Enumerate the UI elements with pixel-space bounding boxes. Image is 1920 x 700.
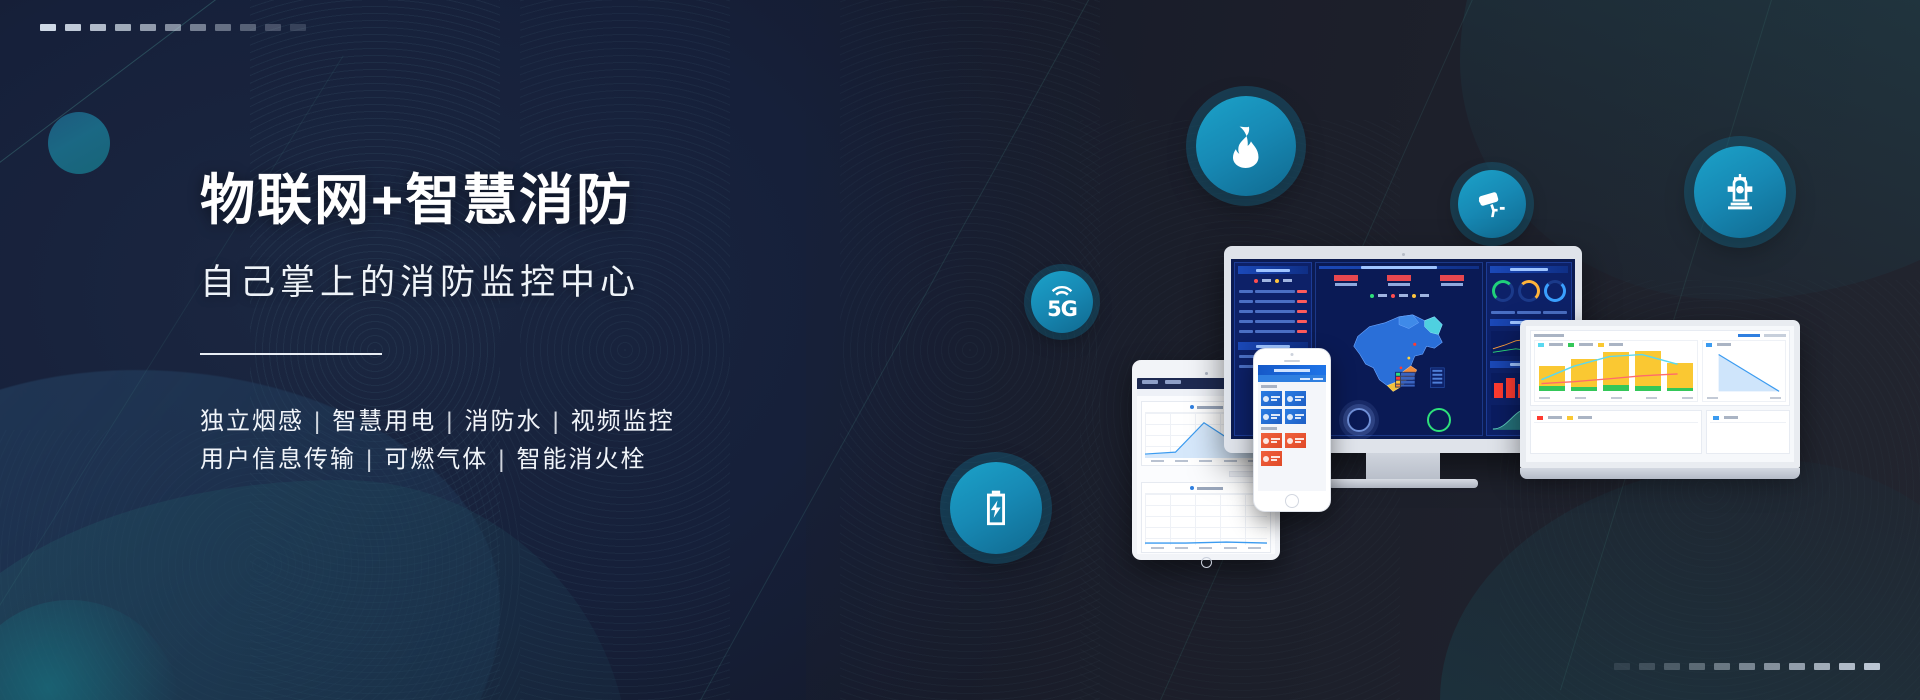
dash-mark (140, 24, 156, 31)
feature-separator: | (436, 408, 464, 435)
phone-tile[interactable] (1285, 391, 1306, 406)
dash-mark (290, 24, 306, 31)
dash-decor-bottom-right (1614, 663, 1880, 670)
dash-mark (190, 24, 206, 31)
dash-mark (1639, 663, 1655, 670)
phone-device[interactable] (1253, 348, 1331, 512)
phone-tile[interactable] (1261, 409, 1282, 424)
5g-icon-badge[interactable]: 5G (1031, 271, 1093, 333)
feature-item[interactable]: 独立烟感 (200, 408, 304, 435)
battery-icon-badge[interactable] (950, 462, 1042, 554)
tablet-home-button[interactable] (1201, 557, 1212, 568)
hydrant-icon (1720, 172, 1760, 212)
feature-separator: | (304, 408, 332, 435)
battery-icon (976, 488, 1016, 528)
camera-icon-badge[interactable] (1458, 170, 1526, 238)
hydrant-icon-badge[interactable] (1694, 146, 1786, 238)
phone-tile-alert[interactable] (1261, 433, 1282, 448)
hero-banner: 物联网+智慧消防 自己掌上的消防监控中心 独立烟感|智慧用电|消防水|视频监控用… (0, 0, 1920, 700)
phone-speaker (1284, 360, 1300, 362)
dash-mark (215, 24, 231, 31)
gauge-2 (1518, 280, 1540, 302)
gauge-3 (1544, 280, 1566, 302)
monitor-panel-center (1315, 262, 1483, 436)
tablet-chart-card-2 (1141, 482, 1271, 553)
dash-mark (1764, 663, 1780, 670)
device-cluster (1120, 280, 1800, 580)
phone-home-button[interactable] (1285, 494, 1299, 508)
feature-row: 独立烟感|智慧用电|消防水|视频监控 (200, 403, 840, 442)
feature-separator: | (488, 446, 516, 473)
dash-mark (1739, 663, 1755, 670)
monitor-stand (1366, 453, 1440, 479)
tablet-camera-dot (1205, 372, 1208, 375)
feature-row: 用户信息传输|可燃气体|智能消火栓 (200, 441, 840, 480)
hero-subheadline: 自己掌上的消防监控中心 (200, 254, 840, 305)
dash-mark (1714, 663, 1730, 670)
sonar-chart (1347, 408, 1371, 432)
hero-copy: 物联网+智慧消防 自己掌上的消防监控中心 独立烟感|智慧用电|消防水|视频监控用… (200, 170, 840, 480)
feature-item[interactable]: 用户信息传输 (200, 446, 356, 473)
dash-mark (1614, 663, 1630, 670)
dash-mark (115, 24, 131, 31)
phone-tile[interactable] (1285, 409, 1306, 424)
dash-mark (1839, 663, 1855, 670)
china-map-chart (1319, 303, 1479, 401)
feature-item[interactable]: 视频监控 (571, 408, 675, 435)
hero-divider (200, 353, 382, 355)
laptop-card-lower-right (1706, 410, 1790, 454)
laptop-screen (1526, 326, 1794, 462)
phone-tile-alert[interactable] (1285, 433, 1306, 448)
dash-mark (240, 24, 256, 31)
decorative-circle (48, 112, 110, 174)
phone-toolbar (1258, 375, 1326, 382)
wifi-signal-icon (1050, 285, 1074, 297)
feature-list: 独立烟感|智慧用电|消防水|视频监控用户信息传输|可燃气体|智能消火栓 (200, 403, 840, 481)
progress-ring-chart (1427, 408, 1451, 432)
laptop-base (1520, 468, 1800, 479)
feature-separator: | (356, 446, 384, 473)
feature-separator: | (542, 408, 570, 435)
laptop-bar-line-chart (1534, 340, 1698, 402)
dash-mark (1689, 663, 1705, 670)
gauge-1 (1492, 280, 1514, 302)
dash-mark (1789, 663, 1805, 670)
monitor-base (1328, 479, 1478, 488)
phone-section-orange (1258, 424, 1326, 466)
dash-mark (265, 24, 281, 31)
laptop-card-lower-left (1530, 410, 1702, 454)
monitor-camera-dot (1402, 253, 1405, 256)
phone-section-blue (1258, 382, 1326, 424)
dash-mark (1664, 663, 1680, 670)
feature-item[interactable]: 智慧用电 (332, 408, 436, 435)
phone-screen (1258, 365, 1326, 491)
feature-item[interactable]: 消防水 (464, 408, 542, 435)
flame-icon (1224, 124, 1268, 168)
flame-icon-badge[interactable] (1196, 96, 1296, 196)
dash-mark (165, 24, 181, 31)
feature-item[interactable]: 智能消火栓 (516, 446, 646, 473)
5g-label: 5G (1047, 299, 1077, 320)
china-map-svg (1340, 303, 1458, 401)
dash-mark (65, 24, 81, 31)
phone-tile-alert[interactable] (1261, 451, 1282, 466)
dash-mark (90, 24, 106, 31)
laptop-device[interactable] (1520, 320, 1800, 479)
hero-headline: 物联网+智慧消防 (200, 170, 840, 232)
dash-mark (1814, 663, 1830, 670)
phone-tile[interactable] (1261, 391, 1282, 406)
dash-mark (40, 24, 56, 31)
laptop-card-main (1530, 330, 1790, 406)
laptop-decline-chart (1702, 340, 1786, 402)
phone-camera-dot (1291, 353, 1294, 356)
feature-item[interactable]: 可燃气体 (384, 446, 488, 473)
camera-icon (1476, 188, 1508, 220)
phone-app-header (1258, 365, 1326, 375)
dash-decor-top-left (40, 24, 306, 31)
dash-mark (1864, 663, 1880, 670)
